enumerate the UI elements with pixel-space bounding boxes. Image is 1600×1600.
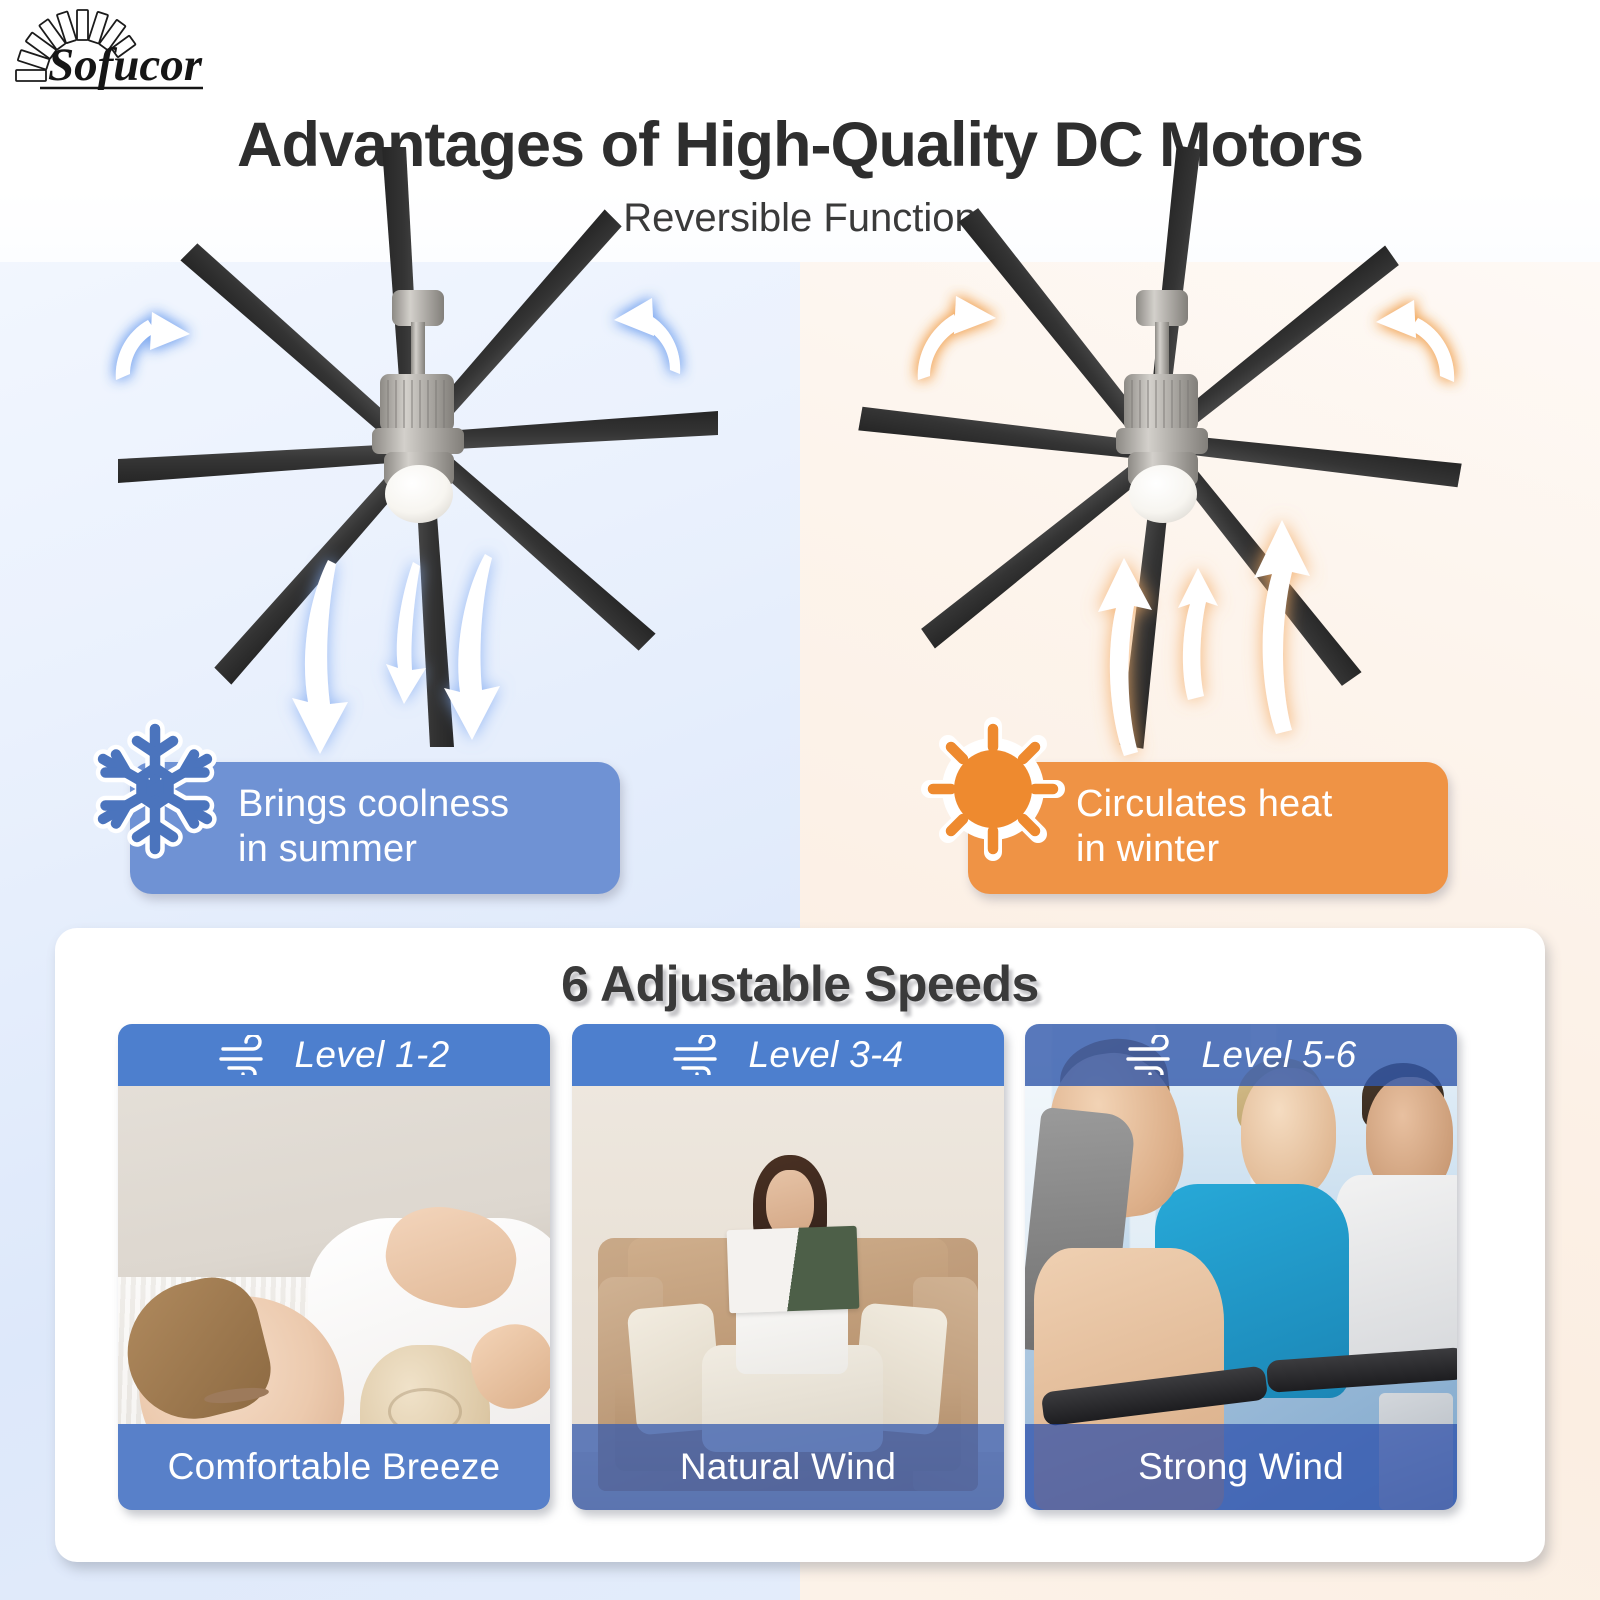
speed-card-caption-1: Comfortable Breeze xyxy=(118,1424,550,1510)
infographic-page: Sofucor Advantages of High-Quality DC Mo… xyxy=(0,0,1600,1600)
speed-card-level-label-3: Level 5-6 xyxy=(1202,1034,1357,1076)
speed-card-level-3-4[interactable]: Level 3-4 Natural Wind xyxy=(572,1024,1004,1510)
wind-icon xyxy=(673,1035,729,1075)
speed-card-caption-3: Strong Wind xyxy=(1025,1424,1457,1510)
speed-card-caption-2: Natural Wind xyxy=(572,1424,1004,1510)
speed-card-level-label-2: Level 3-4 xyxy=(749,1034,904,1076)
speed-card-header-2: Level 3-4 xyxy=(572,1024,1004,1086)
speed-card-header-3: Level 5-6 xyxy=(1025,1024,1457,1086)
speed-card-level-label-1: Level 1-2 xyxy=(295,1034,450,1076)
speed-card-header-1: Level 1-2 xyxy=(118,1024,550,1086)
speed-card-level-1-2[interactable]: Level 1-2 Comfortable Breeze xyxy=(118,1024,550,1510)
wind-icon xyxy=(219,1035,275,1075)
speed-card-level-5-6[interactable]: Level 5-6 Strong Wind xyxy=(1025,1024,1457,1510)
wind-icon xyxy=(1126,1035,1182,1075)
speed-level-cards: Level 1-2 Comfortable Breeze xyxy=(0,0,1600,1600)
